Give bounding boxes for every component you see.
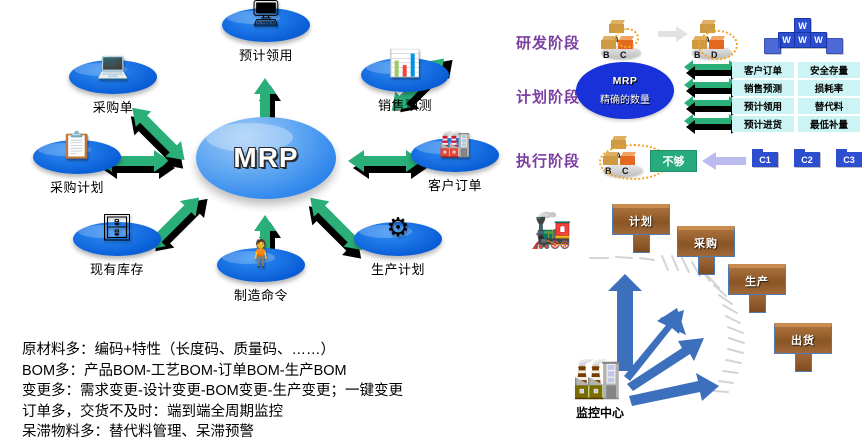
rnd-transition-arrow [658, 26, 688, 42]
monitor-center-label: 监控中心 [576, 404, 624, 421]
signpost-label: 计划 [629, 213, 653, 229]
web-cube-icon [826, 38, 843, 54]
web-cube-icon [764, 38, 781, 54]
chip-c1[interactable]: C1 [752, 152, 778, 167]
node-label: 采购计划 [22, 177, 132, 196]
monitor-fan-diagram: 🚂 计划 采购 生产 出货 🏭 监控中心 [512, 196, 862, 446]
notes-block: 原材料多：编码+特性（长度码、质量码、……） BOM多：产品BOM-工艺BOM-… [22, 340, 492, 443]
steam-train-icon: 🚂 [530, 214, 572, 248]
phases-diagram: 研发阶段 计划阶段 执行阶段 A B C [512, 0, 862, 196]
node-customer-order[interactable]: 🏭 客户订单 [400, 138, 510, 194]
signpost-board: 生产 [728, 264, 786, 295]
mrp-center-label: MRP [233, 142, 298, 174]
web-cube-icon: W [794, 32, 811, 48]
signpost-purchase[interactable]: 采购 [677, 226, 735, 275]
signpost-board: 采购 [677, 226, 735, 257]
machinery-icon: ⚙ [386, 214, 409, 240]
web-cubes-cluster: W W W W [770, 18, 850, 52]
node-purchase-order[interactable]: 💻 采购单 [58, 60, 168, 116]
planning-mrp-sub: 精确的数量 [600, 91, 650, 106]
planning-cell: 安全存量 [798, 62, 860, 78]
signpost-label: 出货 [791, 332, 815, 348]
factory-green-icon: 🏭 [572, 358, 622, 398]
phase-label-planning: 计划阶段 [516, 86, 580, 107]
status-badge-not-enough: 不够 [650, 150, 697, 172]
worker-icon: 🧍 [245, 240, 277, 266]
node-platform: 🗄 [73, 222, 161, 256]
node-platform: ⚙ [354, 222, 442, 256]
node-purchase-plan[interactable]: 📋 采购计划 [22, 140, 132, 196]
node-label: 制造命令 [206, 285, 316, 304]
signpost-plan[interactable]: 计划 [612, 204, 670, 253]
planning-arrow-stack [684, 60, 738, 134]
node-current-stock[interactable]: 🗄 现有库存 [62, 222, 172, 278]
signpost-post [698, 257, 715, 275]
planning-cell: 销售预测 [732, 80, 794, 96]
factory-machine-icon: 🏭 [439, 130, 471, 156]
node-platform: 🖥 [222, 8, 310, 42]
signpost-production[interactable]: 生产 [728, 264, 786, 313]
note-line: 变更多：需求变更-设计变更-BOM变更-生产变更；一键变更 [22, 381, 492, 402]
planning-mrp-ellipse[interactable]: MRP 精确的数量 [576, 62, 674, 119]
node-forecast-usage[interactable]: 🖥 预计领用 [211, 8, 321, 64]
rnd-before-cluster: A B C [597, 14, 657, 62]
node-manufacture-order[interactable]: 🧍 制造命令 [206, 248, 316, 304]
slide-canvas: MRP 🖥 预计领用 💻 采购单 📊 销售预测 📋 采购计划 [0, 0, 862, 446]
mrp-hub-diagram: MRP 🖥 预计领用 💻 采购单 📊 销售预测 📋 采购计划 [0, 0, 500, 330]
signpost-post [749, 295, 766, 313]
node-platform: 📊 [361, 58, 449, 92]
node-label: 客户订单 [400, 175, 510, 194]
signpost-board: 出货 [774, 323, 832, 354]
presentation-board-icon: 📊 [389, 50, 421, 76]
node-label: 销售预测 [350, 95, 460, 114]
planning-cell: 最低补量 [798, 116, 860, 132]
node-platform: 🏭 [411, 138, 499, 172]
chip-c2[interactable]: C2 [794, 152, 820, 167]
node-platform: 📋 [33, 140, 121, 174]
node-production-plan[interactable]: ⚙ 生产计划 [343, 222, 453, 278]
node-sales-forecast[interactable]: 📊 销售预测 [350, 58, 460, 114]
signpost-board: 计划 [612, 204, 670, 235]
signpost-label: 生产 [745, 273, 769, 289]
note-line: 呆滞物料多：替代料管理、呆滞预警 [22, 422, 492, 443]
signpost-post [795, 354, 812, 372]
person-laptop-icon: 💻 [97, 52, 129, 78]
web-cube-icon: W [810, 32, 827, 48]
planning-cell: 预计进货 [732, 116, 794, 132]
note-line: 原材料多：编码+特性（长度码、质量码、……） [22, 340, 492, 361]
node-label: 预计领用 [211, 45, 321, 64]
note-line: BOM多：产品BOM-工艺BOM-订单BOM-生产BOM [22, 361, 492, 382]
node-platform: 💻 [69, 60, 157, 94]
planning-cell: 客户订单 [732, 62, 794, 78]
note-line: 订单多，交货不及时：端到端全周期监控 [22, 402, 492, 423]
execution-inbound-arrow [702, 152, 746, 170]
planning-column-2: 安全存量 损耗率 替代料 最低补量 [798, 62, 860, 134]
fan-arrows [608, 274, 719, 406]
phase-label-execution: 执行阶段 [516, 150, 580, 171]
planning-cell: 损耗率 [798, 80, 860, 96]
mrp-center-node[interactable]: MRP [196, 117, 336, 199]
signpost-label: 采购 [694, 235, 718, 251]
warehouse-rack-icon: 🗄 [100, 214, 133, 240]
planning-column-1: 客户订单 销售预测 预计领用 预计进货 [732, 62, 794, 134]
planning-cell: 替代料 [798, 98, 860, 114]
chip-c3[interactable]: C3 [836, 152, 862, 167]
signpost-shipment[interactable]: 出货 [774, 323, 832, 372]
planning-cell: 预计领用 [732, 98, 794, 114]
presentation-board-icon: 📋 [61, 132, 93, 158]
rnd-after-cluster: A B D [688, 14, 748, 62]
node-label: 现有库存 [62, 259, 172, 278]
phase-label-rnd: 研发阶段 [516, 32, 580, 53]
planning-mrp-title: MRP [613, 75, 638, 87]
node-label: 采购单 [58, 97, 168, 116]
signpost-post [633, 235, 650, 253]
monitor-chart-icon: 🖥 [249, 0, 282, 26]
node-platform: 🧍 [217, 248, 305, 282]
node-label: 生产计划 [343, 259, 453, 278]
